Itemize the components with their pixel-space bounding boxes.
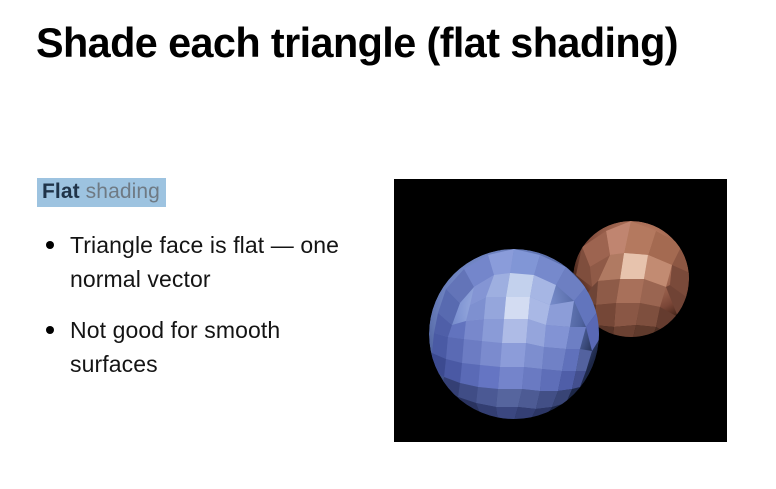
list-item: Triangle face is flat — one normal vecto… [37,228,367,296]
content-text-column: Flat shading Triangle face is flat — one… [37,178,367,381]
section-heading-keyword: Flat [42,180,80,203]
faceted-spheres-illustration [394,179,727,442]
section-heading: Flat shading [37,178,166,207]
section-heading-rest: shading [80,180,160,203]
slide: Shade each triangle (flat shading) Flat … [0,0,776,489]
list-item-label: Not good for smooth surfaces [70,317,280,377]
list-item: Not good for smooth surfaces [37,313,367,381]
bullet-list: Triangle face is flat — one normal vecto… [37,228,367,381]
list-item-label: Triangle face is flat — one normal vecto… [70,232,339,292]
page-title: Shade each triangle (flat shading) [36,18,735,68]
bullet-dot-icon [46,326,54,334]
flat-shading-render-figure [394,179,727,442]
bullet-dot-icon [46,241,54,249]
